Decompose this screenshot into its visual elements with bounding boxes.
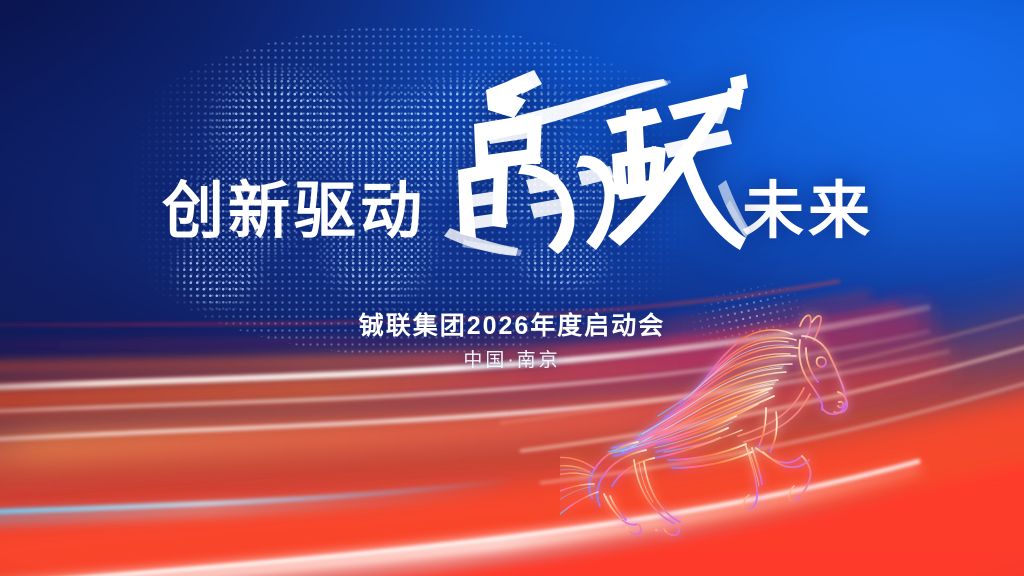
- headline-left-text: 创新驱动: [162, 150, 426, 260]
- poster-canvas: 创新驱动 未来: [0, 0, 1024, 576]
- event-location: 中国·南京: [0, 345, 1024, 372]
- calligraphy-winning-battle: [430, 60, 750, 260]
- event-subtitle: 铖联集团2026年度启动会: [0, 306, 1024, 342]
- headline-right-text: 未来: [742, 150, 874, 260]
